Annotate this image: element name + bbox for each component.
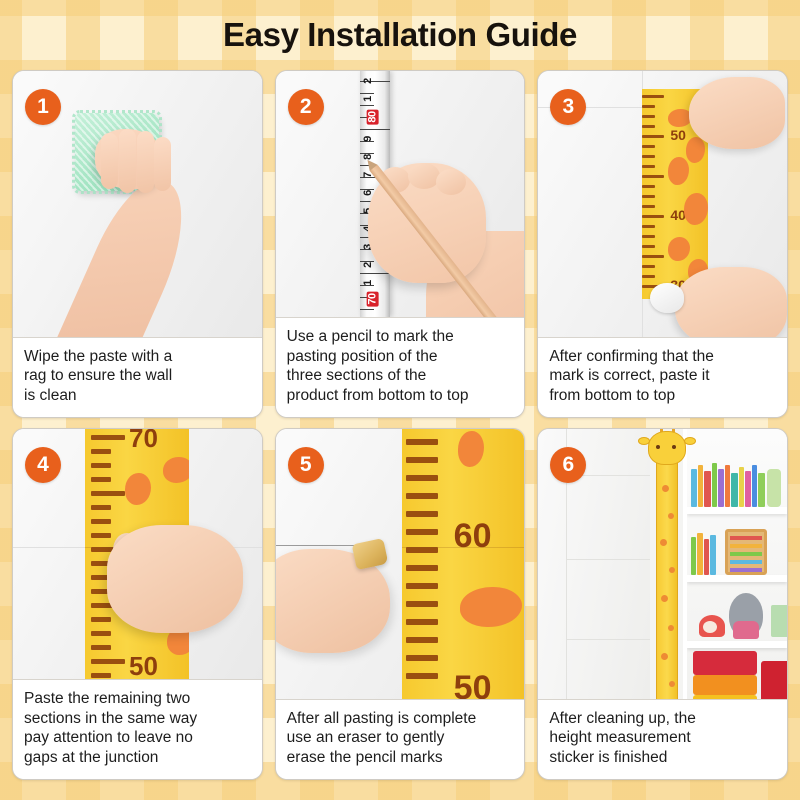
- book: [752, 465, 757, 507]
- storage-bin: [693, 695, 757, 699]
- book: [739, 467, 744, 507]
- tape-number: 1: [361, 96, 373, 102]
- page-title: Easy Installation Guide: [223, 16, 577, 54]
- giraffe-spot: [460, 587, 522, 627]
- step-badge-4: 4: [25, 447, 61, 483]
- book: [704, 539, 709, 575]
- knuckle-graphic: [436, 169, 466, 195]
- step-photo-5: 60 50 5: [276, 429, 525, 699]
- storage-basket: [771, 605, 787, 637]
- finger-graphic: [154, 137, 171, 191]
- hand-graphic: [675, 267, 787, 337]
- step-caption-5: After all pasting is complete use an era…: [276, 699, 525, 779]
- step-photo-6: 6: [538, 429, 787, 699]
- giraffe-spot: [686, 137, 705, 163]
- step-caption-1: Wipe the paste with a rag to ensure the …: [13, 337, 262, 417]
- tape-number: 1: [361, 280, 373, 286]
- giraffe-spot: [668, 237, 690, 261]
- giraffe-spot: [668, 157, 689, 185]
- ruler-number: 70: [129, 429, 158, 454]
- step-card-2[interactable]: 2 1 80 9 8 7 6 5 4 3 2 1 70 9 8: [275, 70, 526, 418]
- installation-guide-page: Easy Installation Guide 1 Wipe the paste…: [0, 0, 800, 800]
- book: [731, 473, 738, 507]
- step-badge-5: 5: [288, 447, 324, 483]
- shelf-board: [687, 641, 787, 648]
- giraffe-head: [648, 431, 686, 465]
- step-caption-4: Paste the remaining two sections in the …: [13, 679, 262, 779]
- book: [725, 465, 730, 507]
- step-caption-3: After confirming that the mark is correc…: [538, 337, 787, 417]
- step-card-5[interactable]: 60 50 5 After all pasting is complete us…: [275, 428, 526, 780]
- ruler-number: 50: [129, 651, 158, 679]
- ruler-number: 50: [670, 127, 686, 143]
- backing-paper: [650, 283, 684, 313]
- plush-skirt: [733, 621, 759, 639]
- ruler-number: 60: [454, 517, 492, 556]
- bookshelf: [683, 429, 787, 699]
- tape-number-highlight: 80: [366, 109, 378, 124]
- finger-graphic: [119, 129, 136, 193]
- step-photo-2: 2 1 80 9 8 7 6 5 4 3 2 1 70 9 8: [276, 71, 525, 317]
- book: [691, 537, 696, 575]
- section-junction: [402, 547, 525, 548]
- abacus-icon: [725, 529, 767, 575]
- storage-bin: [693, 651, 757, 675]
- step-photo-1: 1: [13, 71, 262, 337]
- finger-graphic: [137, 131, 154, 193]
- tape-number: 2: [361, 262, 373, 268]
- book: [691, 469, 697, 507]
- knuckle-graphic: [408, 163, 440, 189]
- step-photo-4: 70 50 4: [13, 429, 262, 679]
- book: [697, 533, 703, 575]
- wall-seam: [13, 547, 87, 548]
- step-photo-3: 50 40 30 3: [538, 71, 787, 337]
- giraffe-ruler-sticker: 60 50: [402, 429, 525, 699]
- giraffe-spot: [684, 193, 708, 225]
- book: [758, 473, 765, 507]
- giraffe-spot: [458, 431, 484, 467]
- steps-grid: 1 Wipe the paste with a rag to ensure th…: [12, 70, 788, 780]
- book: [704, 471, 711, 507]
- book: [712, 463, 717, 507]
- step-badge-1: 1: [25, 89, 61, 125]
- step-card-1[interactable]: 1 Wipe the paste with a rag to ensure th…: [12, 70, 263, 418]
- book: [710, 535, 716, 575]
- toy-face: [703, 621, 717, 633]
- step-caption-6: After cleaning up, the height measuremen…: [538, 699, 787, 779]
- shelf-board: [687, 507, 787, 514]
- tape-number-highlight: 70: [366, 291, 378, 306]
- giraffe-spot: [125, 473, 151, 505]
- tape-number: 9: [361, 136, 373, 142]
- step-card-4[interactable]: 70 50 4 Paste the remaining two sections…: [12, 428, 263, 780]
- step-card-6[interactable]: 6 After cleaning up, the height measurem…: [537, 428, 788, 780]
- hand-graphic: [689, 77, 785, 149]
- shelf-board: [687, 575, 787, 582]
- title-bar: Easy Installation Guide: [0, 0, 800, 70]
- finger-graphic: [101, 133, 118, 189]
- book: [745, 471, 751, 507]
- ruler-number: 50: [454, 669, 492, 699]
- book: [698, 465, 703, 507]
- step-card-3[interactable]: 50 40 30 3 After confirming that the mar…: [537, 70, 788, 418]
- tape-number: 2: [361, 78, 373, 84]
- giraffe-spot: [163, 457, 189, 483]
- step-caption-2: Use a pencil to mark the pasting positio…: [276, 317, 525, 417]
- step-badge-2: 2: [288, 89, 324, 125]
- storage-bin: [761, 661, 787, 699]
- hand-graphic: [107, 525, 243, 633]
- storage-bin: [693, 675, 757, 695]
- book: [718, 469, 724, 507]
- book: [767, 469, 781, 507]
